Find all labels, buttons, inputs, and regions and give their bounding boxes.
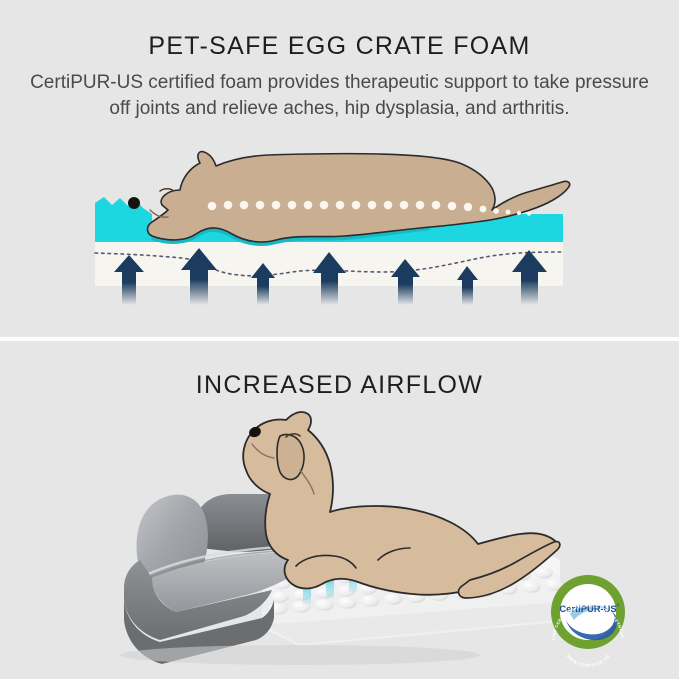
panel-increased-airflow: INCREASED AIRFLOW [0,341,679,679]
panel-top-title: PET-SAFE EGG CRATE FOAM [0,32,679,61]
panel-pet-safe-foam: PET-SAFE EGG CRATE FOAM CertiPUR-US cert… [0,0,679,337]
infographic-page: PET-SAFE EGG CRATE FOAM CertiPUR-US cert… [0,0,679,679]
panel-bottom-title: INCREASED AIRFLOW [0,371,679,400]
panel-top-subtitle: CertiPUR-US certified foam provides ther… [22,70,657,122]
